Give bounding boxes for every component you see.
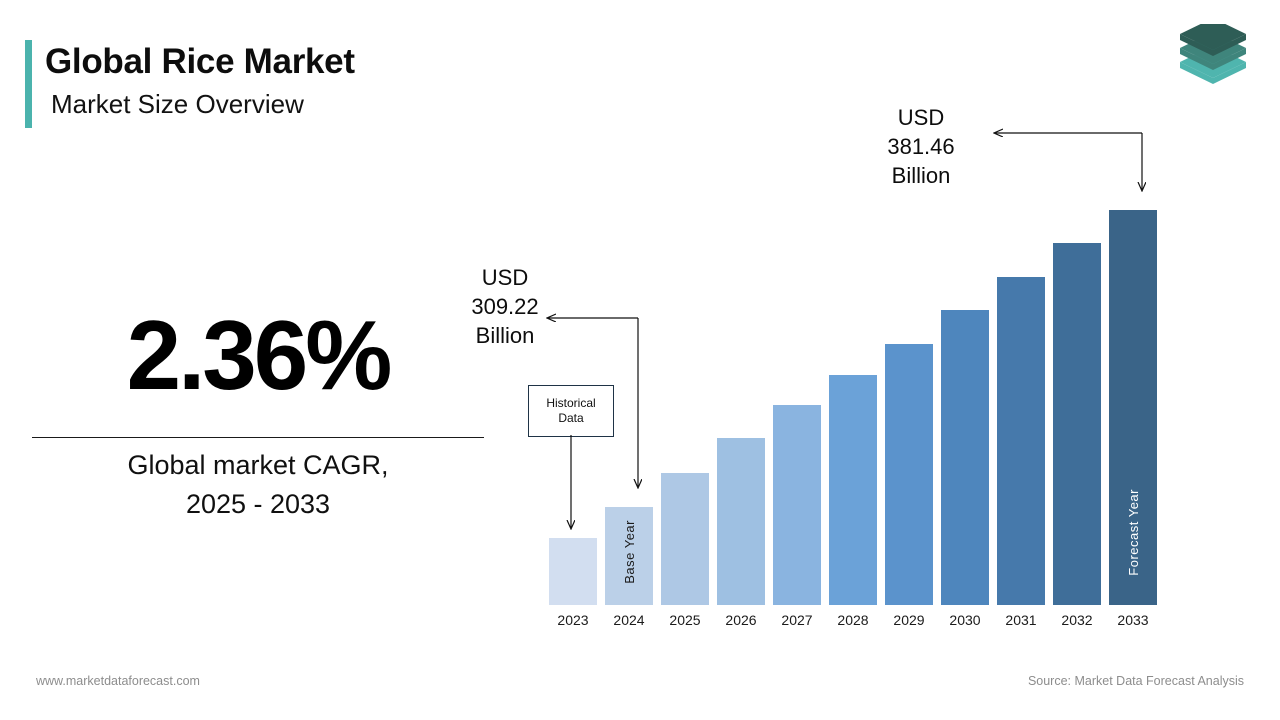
infographic-root: Global Rice Market Market Size Overview … — [0, 0, 1280, 720]
bar-2023[interactable] — [549, 538, 597, 605]
x-label-2023: 2023 — [549, 612, 597, 628]
forecast-year-rotated-label: Forecast Year — [1109, 467, 1157, 597]
footer-website[interactable]: www.marketdataforecast.com — [36, 674, 200, 688]
cagr-value: 2.36% — [32, 306, 484, 404]
x-label-2025: 2025 — [661, 612, 709, 628]
cagr-caption-line2: 2025 - 2033 — [32, 485, 484, 524]
cagr-divider — [32, 437, 484, 438]
x-label-2024: 2024 — [605, 612, 653, 628]
cagr-caption-line1: Global market CAGR, — [32, 446, 484, 485]
bar-2028[interactable] — [829, 375, 877, 605]
page-title: Global Rice Market Market Size Overview — [45, 44, 355, 118]
cagr-caption: Global market CAGR, 2025 - 2033 — [32, 446, 484, 524]
bar-chart: Base Year Forecast Year 2023 2024 2025 2… — [549, 0, 1169, 720]
x-label-2031: 2031 — [997, 612, 1045, 628]
bar-2025[interactable] — [661, 473, 709, 605]
x-label-2032: 2032 — [1053, 612, 1101, 628]
title-main: Global Rice Market — [45, 44, 355, 81]
x-label-2033: 2033 — [1109, 612, 1157, 628]
base-year-rotated-label: Base Year — [605, 507, 653, 597]
bar-2026[interactable] — [717, 438, 765, 605]
bar-2029[interactable] — [885, 344, 933, 605]
title-subtitle: Market Size Overview — [51, 91, 355, 118]
bar-2024[interactable]: Base Year — [605, 507, 653, 605]
title-accent-bar — [25, 40, 32, 128]
footer-source: Source: Market Data Forecast Analysis — [1028, 674, 1244, 688]
bar-2027[interactable] — [773, 405, 821, 605]
bar-2031[interactable] — [997, 277, 1045, 605]
x-label-2030: 2030 — [941, 612, 989, 628]
layers-logo — [1170, 24, 1256, 106]
bar-2032[interactable] — [1053, 243, 1101, 605]
x-label-2029: 2029 — [885, 612, 933, 628]
x-label-2027: 2027 — [773, 612, 821, 628]
bar-2033[interactable]: Forecast Year — [1109, 210, 1157, 605]
bar-2030[interactable] — [941, 310, 989, 605]
x-label-2026: 2026 — [717, 612, 765, 628]
x-label-2028: 2028 — [829, 612, 877, 628]
